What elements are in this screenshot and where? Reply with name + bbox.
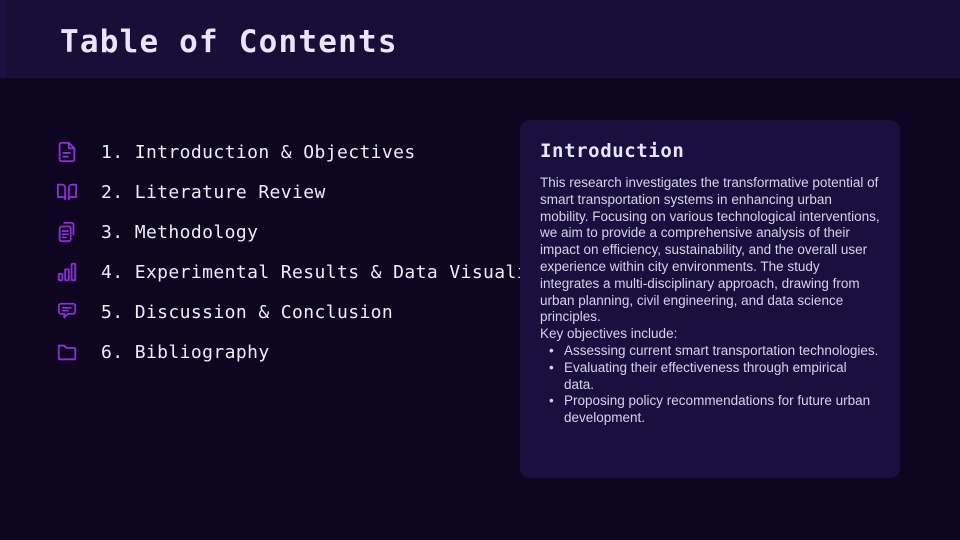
file-text-icon	[56, 140, 86, 164]
table-of-contents-list: 1. Introduction & Objectives 2. Literatu…	[56, 132, 576, 372]
list-item: Proposing policy recommendations for fut…	[540, 393, 880, 427]
message-square-icon	[56, 300, 86, 324]
slide-root: Table of Contents 1. Introduction & Obje…	[0, 0, 960, 540]
card-objectives-label: Key objectives include:	[540, 326, 880, 343]
toc-item-5[interactable]: 5. Discussion & Conclusion	[56, 292, 576, 332]
clipboard-copy-icon	[56, 220, 86, 244]
folder-icon	[56, 340, 86, 364]
list-item: Evaluating their effectiveness through e…	[540, 360, 880, 394]
toc-item-2[interactable]: 2. Literature Review	[56, 172, 576, 212]
header-accent-bar	[0, 0, 6, 78]
detail-card: Introduction This research investigates …	[520, 120, 900, 478]
list-item: Assessing current smart transportation t…	[540, 343, 880, 360]
card-bullet-list: Assessing current smart transportation t…	[540, 343, 880, 427]
card-heading: Introduction	[540, 140, 880, 162]
toc-item-4[interactable]: 4. Experimental Results & Data Visualiza…	[56, 252, 576, 292]
toc-item-label: 1. Introduction & Objectives	[101, 142, 416, 163]
toc-item-1[interactable]: 1. Introduction & Objectives	[56, 132, 576, 172]
toc-item-3[interactable]: 3. Methodology	[56, 212, 576, 252]
toc-item-label: 3. Methodology	[101, 222, 258, 243]
card-paragraph: This research investigates the transform…	[540, 175, 880, 326]
page-title: Table of Contents	[60, 24, 398, 60]
bar-chart-icon	[56, 260, 86, 284]
open-book-icon	[56, 180, 86, 204]
toc-item-label: 2. Literature Review	[101, 182, 326, 203]
toc-item-label: 6. Bibliography	[101, 342, 270, 363]
toc-item-6[interactable]: 6. Bibliography	[56, 332, 576, 372]
toc-item-label: 5. Discussion & Conclusion	[101, 302, 393, 323]
slide-header: Table of Contents	[0, 0, 960, 78]
